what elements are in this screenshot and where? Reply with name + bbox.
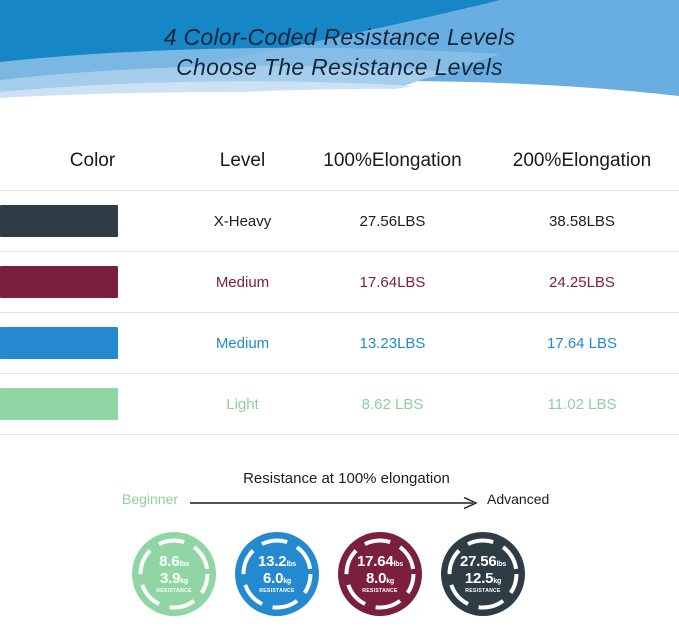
badge-lbs-line: 8.6lbs — [159, 554, 189, 569]
scale-label-advanced: Advanced — [487, 491, 549, 507]
color-swatch — [0, 205, 118, 237]
badge-lbs-line: 17.64lbs — [357, 554, 403, 569]
badge-lbs-value: 17.64 — [357, 553, 394, 570]
scale-label-beginner: Beginner — [122, 491, 178, 507]
badge-caption: RESISTANCE — [465, 589, 501, 594]
scale-arrow-icon — [190, 497, 482, 509]
badge-kg-value: 8.0 — [366, 570, 386, 587]
color-swatch — [0, 388, 118, 420]
badge-kg-value: 3.9 — [160, 570, 180, 587]
badge-kg-unit: kg — [180, 578, 188, 585]
cell-elongation-100: 27.56LBS — [300, 213, 485, 230]
table-divider — [0, 434, 679, 435]
color-swatch-cell — [0, 327, 185, 359]
column-header-level: Level — [185, 150, 300, 172]
table-row: Light 8.62 LBS 11.02 LBS — [0, 374, 679, 434]
resistance-badge: 17.64lbs 8.0kg RESISTANCE — [337, 531, 423, 617]
column-header-elongation-200: 200%Elongation — [485, 150, 679, 172]
cell-elongation-100: 13.23LBS — [300, 335, 485, 352]
resistance-badge: 13.2lbs 6.0kg RESISTANCE — [234, 531, 320, 617]
color-swatch-cell — [0, 388, 185, 420]
badge-lbs-unit: lbs — [497, 561, 507, 568]
cell-level: Medium — [185, 274, 300, 291]
badge-caption: RESISTANCE — [362, 589, 398, 594]
color-swatch — [0, 266, 118, 298]
column-header-color: Color — [0, 150, 185, 172]
badge-kg-line: 8.0kg — [366, 571, 394, 586]
badge-kg-value: 12.5 — [465, 570, 493, 587]
cell-elongation-100: 8.62 LBS — [300, 396, 485, 413]
badge-lbs-value: 8.6 — [159, 553, 179, 570]
table-header-row: Color Level 100%Elongation 200%Elongatio… — [0, 132, 679, 190]
resistance-badge: 8.6lbs 3.9kg RESISTANCE — [131, 531, 217, 617]
badge-lbs-value: 27.56 — [460, 553, 497, 570]
header-banner: 4 Color-Coded Resistance Levels Choose T… — [0, 0, 679, 110]
cell-elongation-200: 11.02 LBS — [485, 396, 679, 413]
badge-kg-unit: kg — [386, 578, 394, 585]
cell-elongation-200: 24.25LBS — [485, 274, 679, 291]
badge-text-group: 8.6lbs 3.9kg RESISTANCE — [131, 531, 217, 617]
badge-caption: RESISTANCE — [156, 589, 192, 594]
cell-level: Medium — [185, 335, 300, 352]
badge-kg-line: 3.9kg — [160, 571, 188, 586]
badge-kg-unit: kg — [283, 578, 291, 585]
color-swatch-cell — [0, 205, 185, 237]
scale-caption: Resistance at 100% elongation — [0, 470, 679, 487]
column-header-elongation-100: 100%Elongation — [300, 150, 485, 172]
badge-lbs-value: 13.2 — [258, 553, 286, 570]
badge-text-group: 13.2lbs 6.0kg RESISTANCE — [234, 531, 320, 617]
color-swatch — [0, 327, 118, 359]
color-swatch-cell — [0, 266, 185, 298]
cell-level: X-Heavy — [185, 213, 300, 230]
badge-kg-value: 6.0 — [263, 570, 283, 587]
table-row: Medium 13.23LBS 17.64 LBS — [0, 313, 679, 373]
resistance-table: Color Level 100%Elongation 200%Elongatio… — [0, 132, 679, 435]
badge-kg-line: 6.0kg — [263, 571, 291, 586]
table-row: X-Heavy 27.56LBS 38.58LBS — [0, 191, 679, 251]
badge-caption: RESISTANCE — [259, 589, 295, 594]
badge-lbs-unit: lbs — [179, 561, 189, 568]
resistance-badge: 27.56lbs 12.5kg RESISTANCE — [440, 531, 526, 617]
cell-level: Light — [185, 396, 300, 413]
table-row: Medium 17.64LBS 24.25LBS — [0, 252, 679, 312]
cell-elongation-100: 17.64LBS — [300, 274, 485, 291]
badge-lbs-line: 27.56lbs — [460, 554, 506, 569]
badge-lbs-unit: lbs — [394, 561, 404, 568]
badge-lbs-unit: lbs — [286, 561, 296, 568]
cell-elongation-200: 38.58LBS — [485, 213, 679, 230]
badge-text-group: 17.64lbs 8.0kg RESISTANCE — [337, 531, 423, 617]
cell-elongation-200: 17.64 LBS — [485, 335, 679, 352]
badge-kg-unit: kg — [493, 578, 501, 585]
badge-lbs-line: 13.2lbs — [258, 554, 296, 569]
badge-kg-line: 12.5kg — [465, 571, 501, 586]
resistance-badge-row: 8.6lbs 3.9kg RESISTANCE 13.2lbs 6.0kg RE… — [0, 531, 679, 623]
resistance-scale: Resistance at 100% elongation Beginner A… — [0, 469, 679, 531]
banner-background-art — [0, 0, 679, 110]
badge-text-group: 27.56lbs 12.5kg RESISTANCE — [440, 531, 526, 617]
